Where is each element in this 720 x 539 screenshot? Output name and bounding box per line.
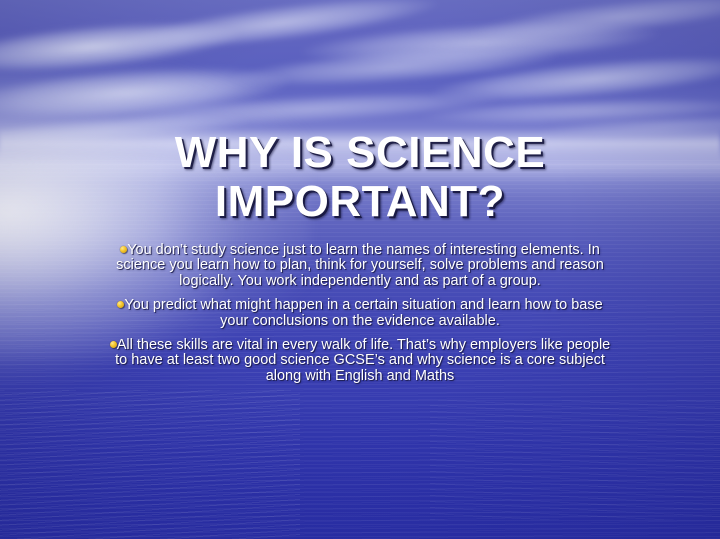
bullet-text-1: You don’t study science just to learn th…	[116, 242, 604, 289]
slide-title-line-1: WHY IS SCIENCE	[60, 128, 660, 177]
bullet-item-1: You don’t study science just to learn th…	[108, 243, 612, 289]
slide-body: You don’t study science just to learn th…	[108, 243, 612, 384]
slide-title-line-2: IMPORTANT?	[60, 177, 660, 226]
bullet-item-2: You predict what might happen in a certa…	[108, 298, 612, 329]
bullet-dot-icon	[120, 246, 127, 253]
slide-title: WHY IS SCIENCE IMPORTANT?	[60, 128, 660, 226]
bullet-item-3: All these skills are vital in every walk…	[108, 338, 612, 384]
presentation-slide: WHY IS SCIENCE IMPORTANT? You don’t stud…	[0, 0, 720, 539]
slide-content: WHY IS SCIENCE IMPORTANT? You don’t stud…	[0, 0, 720, 539]
bullet-text-2: You predict what might happen in a certa…	[124, 297, 602, 328]
bullet-dot-icon	[110, 341, 117, 348]
bullet-text-3: All these skills are vital in every walk…	[115, 337, 610, 384]
